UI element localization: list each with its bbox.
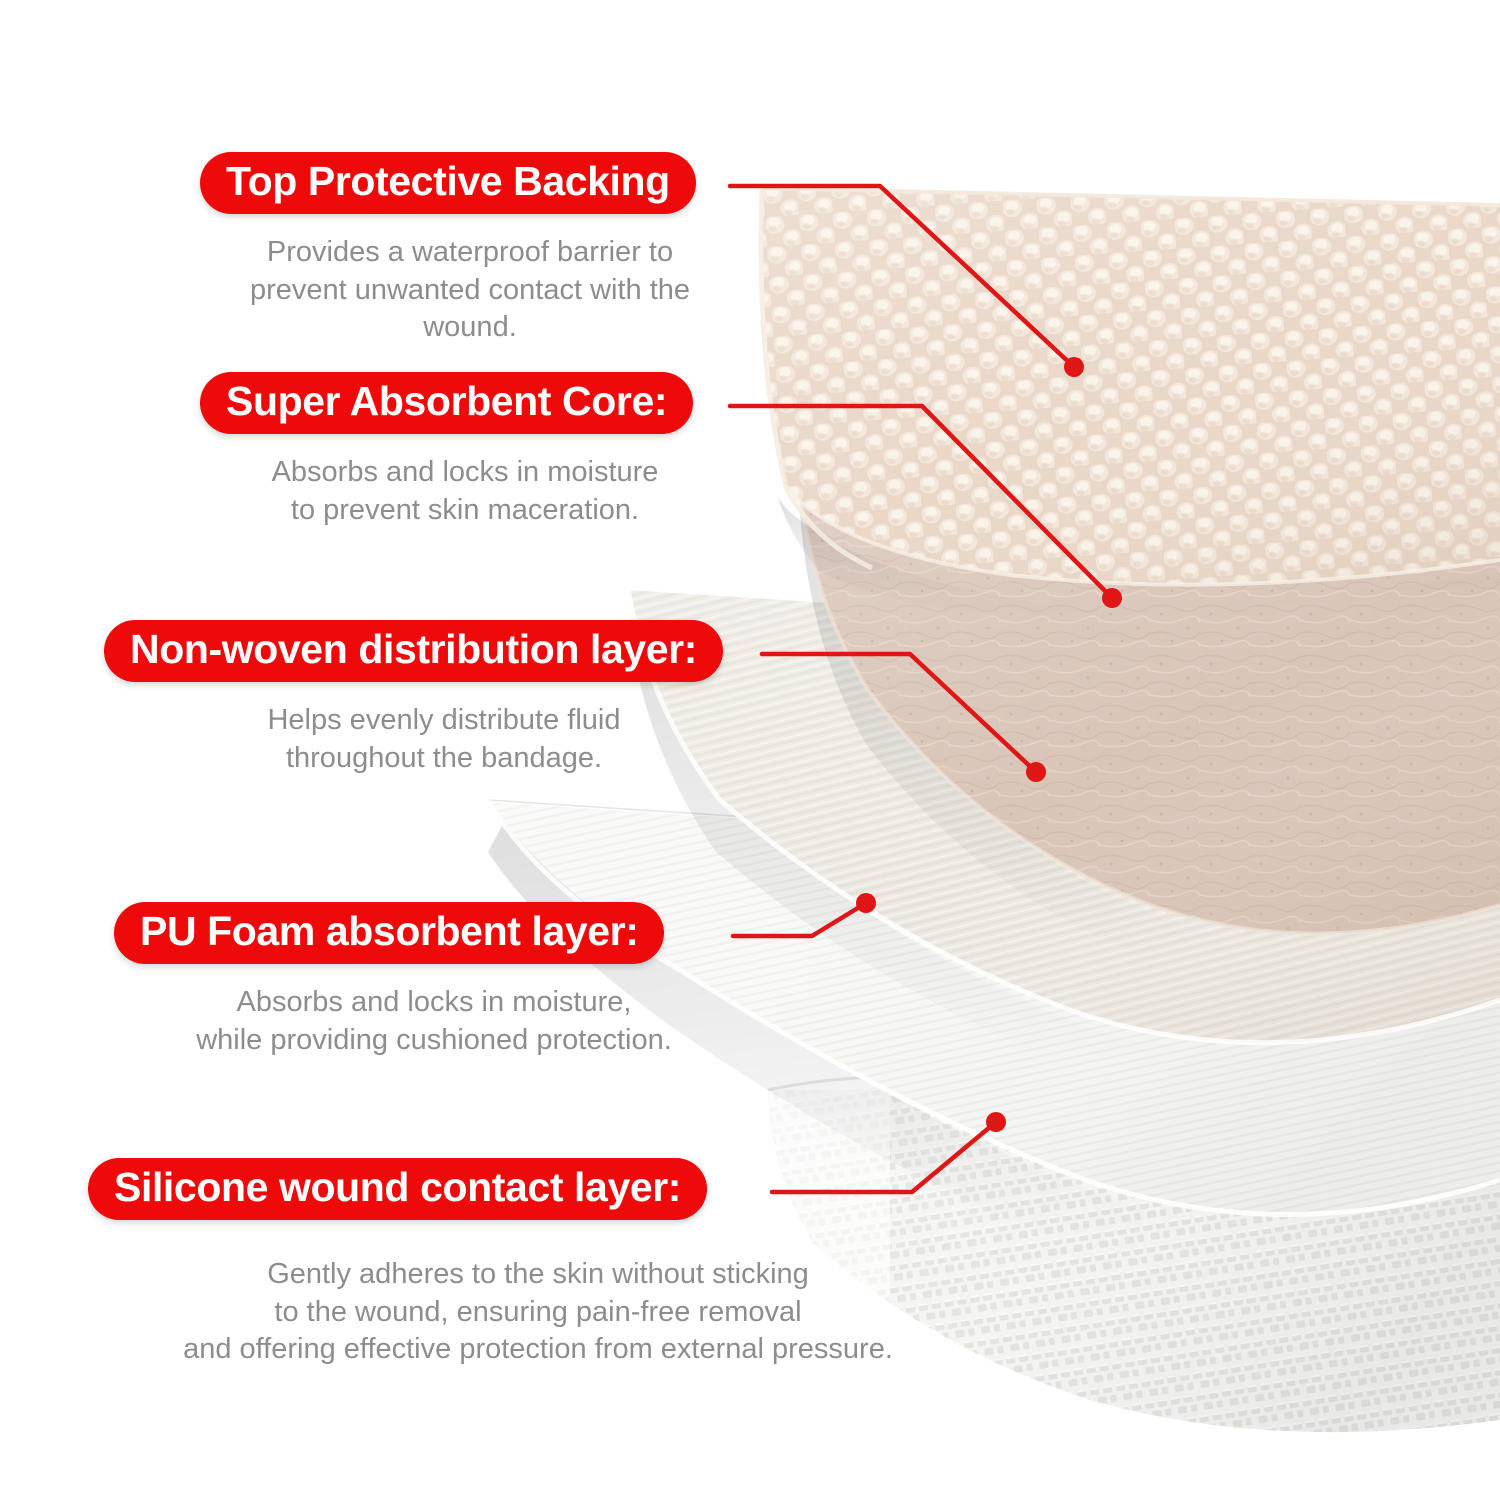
leader-dot-pu-foam-absorbent-layer [856,893,876,913]
callout-title-silicone-wound-contact-layer[interactable]: Silicone wound contact layer: [88,1158,707,1220]
leader-line-super-absorbent-core [730,406,1112,598]
callout-description-pu-foam-absorbent-layer: Absorbs and locks in moisture, while pro… [114,984,754,1059]
callout-non-woven-distribution-layer: Non-woven distribution layer: Helps even… [104,620,784,777]
callout-silicone-wound-contact-layer: Silicone wound contact layer: Gently adh… [88,1158,1008,1369]
callout-description-top-protective-backing: Provides a waterproof barrier to prevent… [200,234,740,347]
callout-title-pu-foam-absorbent-layer[interactable]: PU Foam absorbent layer: [114,902,664,964]
leader-dot-silicone-wound-contact-layer [986,1112,1006,1132]
callout-super-absorbent-core: Super Absorbent Core: Absorbs and locks … [200,372,740,529]
callout-pu-foam-absorbent-layer: PU Foam absorbent layer: Absorbs and loc… [114,902,754,1059]
callout-title-super-absorbent-core[interactable]: Super Absorbent Core: [200,372,693,434]
layer-top-protective-backing [761,188,1500,622]
leader-line-top-protective-backing [730,186,1074,367]
callout-title-top-protective-backing[interactable]: Top Protective Backing [200,152,696,214]
leader-line-non-woven-distribution-layer [762,654,1036,772]
callout-description-super-absorbent-core: Absorbs and locks in moisture to prevent… [200,454,730,529]
callout-description-non-woven-distribution-layer: Helps evenly distribute fluid throughout… [104,702,784,777]
infographic-canvas: Top Protective Backing Provides a waterp… [0,0,1500,1500]
leader-dot-non-woven-distribution-layer [1026,762,1046,782]
leader-dot-top-protective-backing [1064,357,1084,377]
leader-dot-super-absorbent-core [1102,588,1122,608]
callout-title-non-woven-distribution-layer[interactable]: Non-woven distribution layer: [104,620,723,682]
layer-super-absorbent-core [800,490,1500,991]
callout-top-protective-backing: Top Protective Backing Provides a waterp… [200,152,740,347]
callout-description-silicone-wound-contact-layer: Gently adheres to the skin without stick… [88,1256,988,1369]
